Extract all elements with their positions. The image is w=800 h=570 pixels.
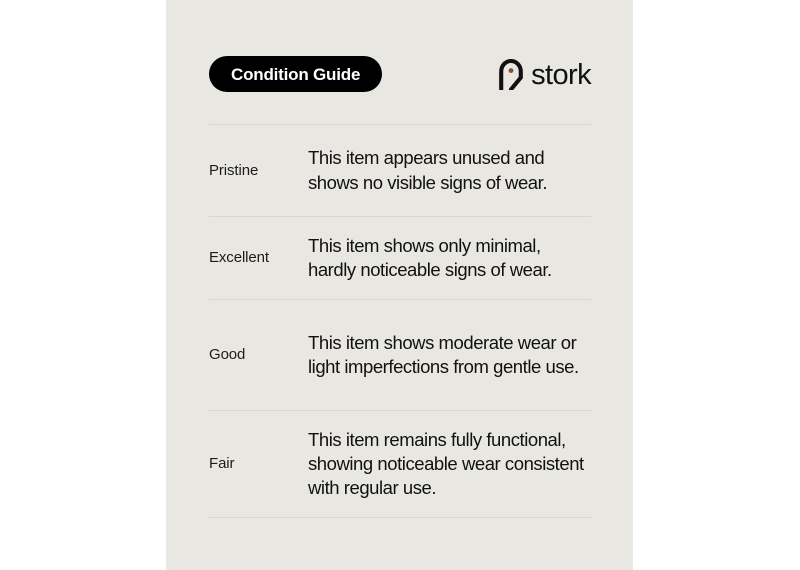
condition-table: Pristine This item appears unused and sh… bbox=[209, 124, 591, 518]
condition-label: Fair bbox=[209, 455, 308, 473]
table-row: Excellent This item shows only minimal, … bbox=[209, 217, 591, 299]
condition-label: Pristine bbox=[209, 162, 308, 180]
condition-description: This item shows moderate wear or light i… bbox=[308, 331, 591, 379]
condition-guide-card: Condition Guide stork Pristine This item… bbox=[166, 0, 633, 570]
brand-logo: stork bbox=[498, 56, 591, 92]
condition-label: Excellent bbox=[209, 249, 308, 267]
condition-guide-badge[interactable]: Condition Guide bbox=[209, 56, 382, 92]
table-row: Pristine This item appears unused and sh… bbox=[209, 125, 591, 216]
condition-description: This item remains fully functional, show… bbox=[308, 428, 591, 500]
brand-name: stork bbox=[531, 61, 591, 90]
table-row: Good This item shows moderate wear or li… bbox=[209, 300, 591, 410]
screenshot-canvas: Condition Guide stork Pristine This item… bbox=[0, 0, 800, 570]
table-divider bbox=[209, 517, 591, 518]
card-header: Condition Guide stork bbox=[209, 56, 591, 92]
stork-arch-mark-icon bbox=[498, 59, 524, 90]
condition-label: Good bbox=[209, 346, 308, 364]
condition-description: This item appears unused and shows no vi… bbox=[308, 146, 591, 194]
table-row: Fair This item remains fully functional,… bbox=[209, 411, 591, 517]
condition-description: This item shows only minimal, hardly not… bbox=[308, 234, 591, 282]
